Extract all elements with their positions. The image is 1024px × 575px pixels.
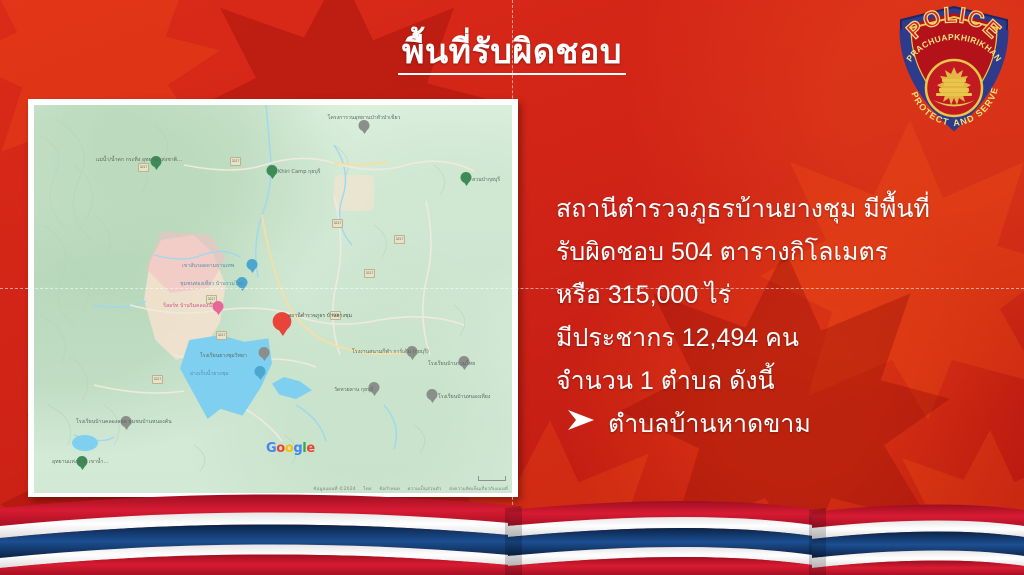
google-logo-letter: e [306, 441, 314, 456]
map-image-frame: 3217 3217 3217 3217 3217 1001 3217 3217 … [28, 99, 518, 497]
thai-flag-ribbon [0, 480, 1024, 575]
content-line: รับผิดชอบ 504 ตารางกิโลเมตร [556, 231, 1008, 274]
map-route-shield: 3217 [332, 219, 343, 228]
map-route-shield: 3217 [216, 331, 227, 340]
map-marker-label: อุทยานแห่งชาติ เขาน้ำ... [52, 459, 98, 466]
map-marker-label: อ่างเก็บน้ำยางชุม [190, 371, 229, 378]
google-logo-letter: g [293, 441, 302, 456]
map-marker-label: โรงเรียนยางชุมวิทยา [200, 353, 247, 360]
map-marker-label: โรงเรียนบ้านคลองลอย ชุมชนบ้านหนองคัน [76, 419, 136, 426]
map-route-shield: 3217 [230, 157, 241, 166]
map-marker-label: เขาสันรอดคามธานเทพ [182, 263, 234, 270]
map-route-shield: 3217 [138, 163, 149, 172]
map-marker-label: ชุมชนท่องเที่ยว บ้านรวมไทย [180, 281, 240, 288]
content-line: สถานีตำรวจภูธรบ้านยางชุม มีพื้นที่ [556, 188, 1008, 231]
map-marker[interactable] [461, 172, 472, 183]
map-marker[interactable] [427, 389, 438, 400]
map-marker[interactable] [267, 165, 278, 176]
map-marker-label: สวนป่ากุยบุรี [472, 177, 500, 184]
map-marker-label: แม่น้ำ/น้ำตก กระทิง อุทยานแห่งชาติ... [96, 157, 154, 164]
map-route-shield: 3217 [152, 375, 163, 384]
map-marker-label: Khiri Camp กุยบุรี [278, 169, 320, 176]
content-line: หรือ 315,000 ไร่ [556, 274, 1008, 317]
map-marker-label: โรงงานสนามกีฬา การ์เด้น (กุยบุรี) [352, 349, 412, 356]
google-logo-letter: o [276, 441, 285, 456]
map-water-body [72, 435, 98, 451]
map-marker-label: สถานีตำรวจภูธร บ้านยางชุม [288, 313, 358, 320]
slide: พื้นที่รับผิดชอบ [0, 0, 1024, 575]
map-route-shield: 3217 [364, 269, 375, 278]
content-line: จำนวน 1 ตำบล ดังนี้ [556, 360, 1008, 403]
map-marker-label: โรงเรียนบ้านรวมไทย [428, 361, 475, 368]
map-marker[interactable] [255, 366, 266, 377]
map-marker-label: โรงเรียนบ้านหนองเหียง [438, 394, 490, 401]
content-text-block: สถานีตำรวจภูธรบ้านยางชุม มีพื้นที่ รับผิ… [556, 188, 1008, 446]
google-logo-letter: G [266, 441, 276, 456]
map-marker-label: วัดหวยลาน กุยบุรี [334, 387, 373, 394]
map-marker[interactable] [359, 120, 370, 131]
map-route-shield: 3217 [394, 235, 405, 244]
map-marker[interactable] [247, 259, 258, 270]
bullet-list-item-label: ตำบลบ้านหาดขาม [608, 403, 811, 446]
arrow-bullet-icon [566, 403, 596, 446]
map-marker-label: รีสอร์ท บ้านริมคลองน้ำ [162, 303, 216, 310]
map-marker[interactable] [259, 347, 270, 358]
content-line: มีประชากร 12,494 คน [556, 317, 1008, 360]
map-canvas[interactable]: 3217 3217 3217 3217 3217 1001 3217 3217 … [34, 105, 512, 493]
map-marker-label: โครงการวนอุทยานป่าหัวป่าเขียว [322, 115, 406, 122]
google-logo: Google [266, 441, 315, 456]
bullet-list-item: ตำบลบ้านหาดขาม [556, 403, 1008, 446]
police-badge-logo: POLICE PRACHUAPKHIRIKHAN PROTECT AND SER… [893, 4, 1015, 132]
